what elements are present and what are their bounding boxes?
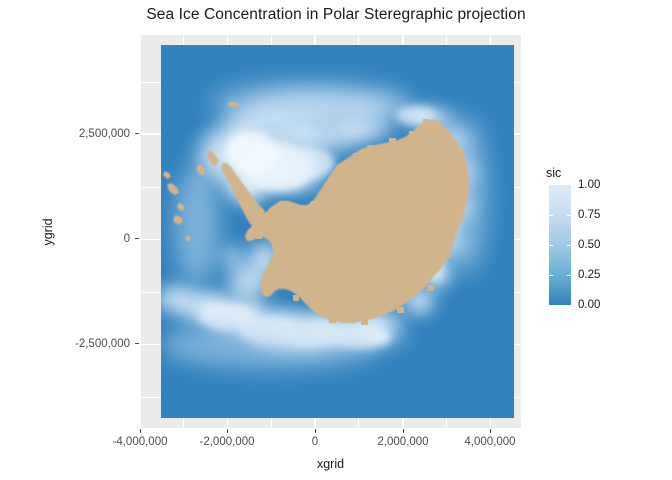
- legend-tick: [567, 275, 571, 276]
- x-axis-tick-label: -4,000,000: [113, 436, 168, 448]
- legend: sic 1.00 0.75 0.50 0.25 0.00: [540, 166, 650, 316]
- legend-label: 0.00: [578, 299, 600, 311]
- y-axis-tick: [135, 343, 139, 344]
- x-axis-tick-label: 4,000,000: [464, 436, 515, 448]
- legend-label: 0.50: [578, 239, 600, 251]
- legend-title: sic: [546, 166, 561, 180]
- plot-panel: [140, 35, 521, 428]
- y-axis-tick-label: 2,500,000: [60, 128, 130, 140]
- chart-title: Sea Ice Concentration in Polar Steregrap…: [0, 6, 672, 24]
- legend-tick: [567, 215, 571, 216]
- legend-tick: [567, 245, 571, 246]
- x-axis-title: xgrid: [140, 457, 521, 471]
- legend-tick: [549, 245, 553, 246]
- x-axis-tick: [315, 429, 316, 433]
- x-axis-tick-label: 0: [312, 436, 318, 448]
- x-axis-tick: [403, 429, 404, 433]
- chart-figure: Sea Ice Concentration in Polar Steregrap…: [0, 0, 672, 480]
- x-axis-tick: [227, 429, 228, 433]
- legend-label: 0.25: [578, 269, 600, 281]
- x-axis-tick-label: -2,000,000: [200, 436, 255, 448]
- x-axis-tick: [490, 429, 491, 433]
- y-axis-tick: [135, 238, 139, 239]
- y-axis-tick-label: -2,500,000: [60, 338, 130, 350]
- y-axis-tick-label: 0: [60, 233, 130, 245]
- legend-label: 0.75: [578, 209, 600, 221]
- gridline-major-vertical: [140, 35, 141, 428]
- sea-ice-raster: [161, 45, 514, 418]
- legend-label: 1.00: [578, 179, 600, 191]
- y-axis-tick: [135, 133, 139, 134]
- x-axis-tick-label: 2,000,000: [377, 436, 428, 448]
- x-axis-tick: [140, 429, 141, 433]
- legend-tick: [549, 275, 553, 276]
- legend-tick: [549, 215, 553, 216]
- y-axis-title: ygrid: [41, 218, 55, 245]
